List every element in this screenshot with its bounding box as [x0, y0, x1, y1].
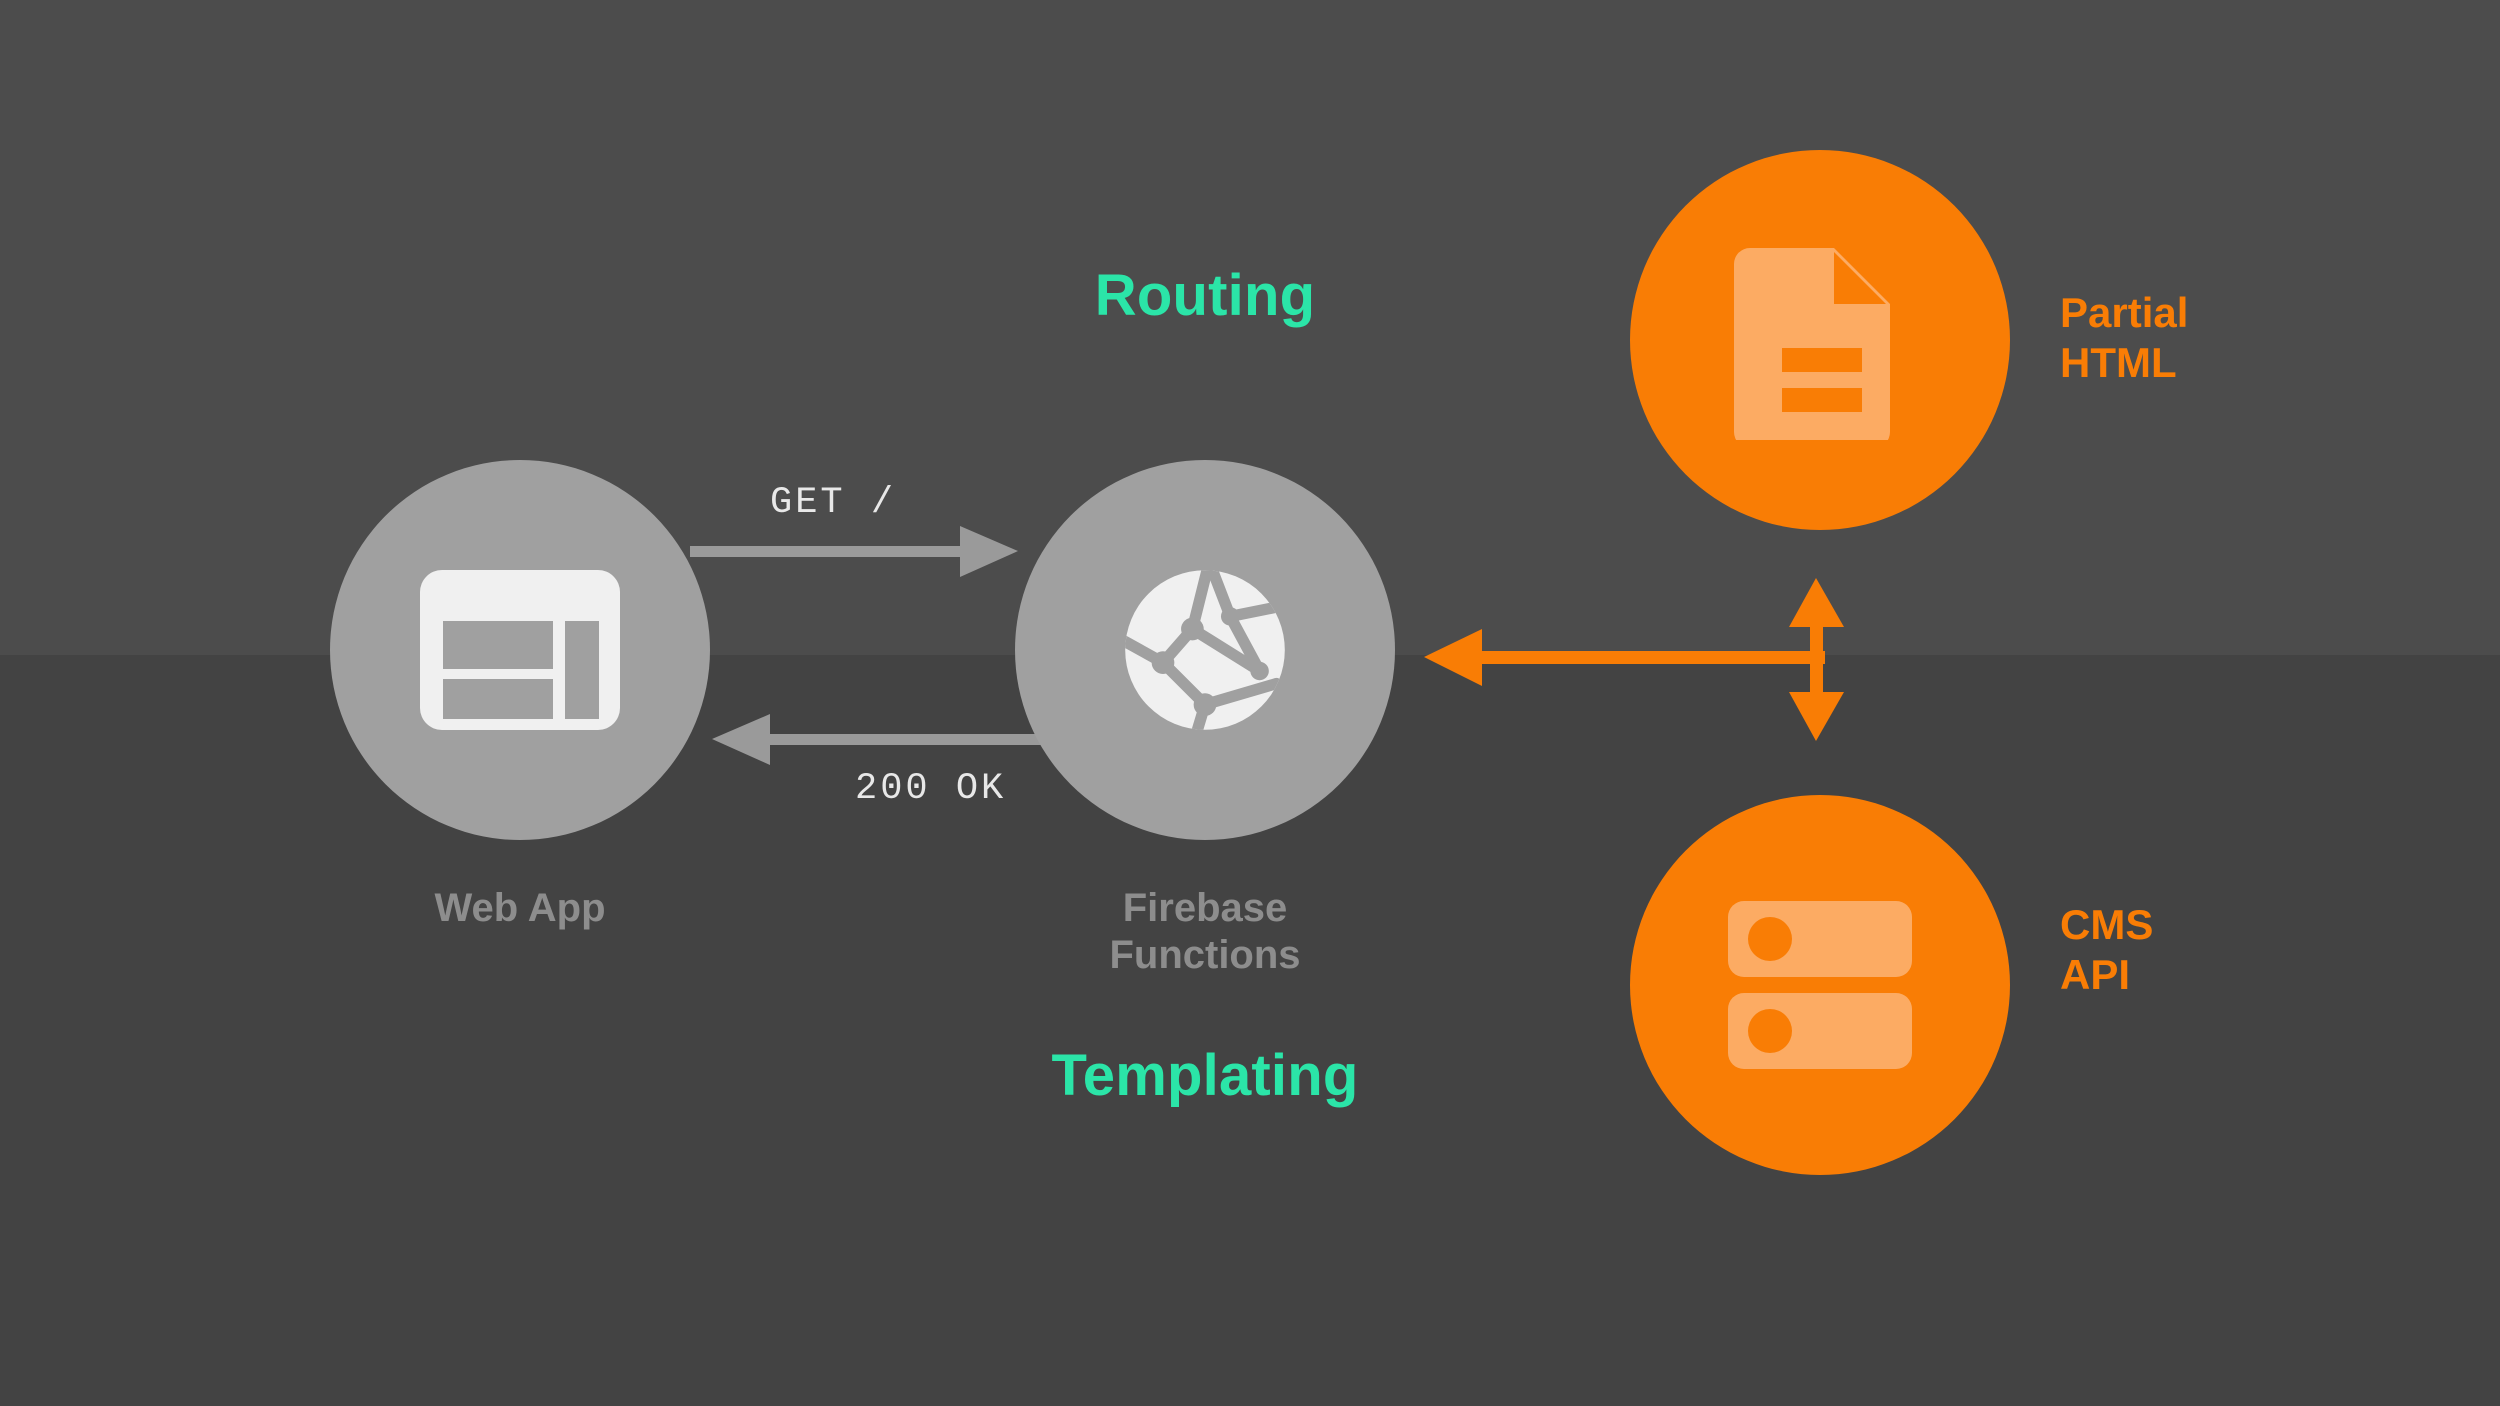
server-stack-icon	[1720, 895, 1920, 1075]
web-app-label: Web App	[320, 885, 720, 932]
request-arrow-label: GET /	[770, 482, 896, 524]
response-arrow-label: 200 OK	[855, 768, 1006, 810]
cms-fetch-connector	[1424, 578, 1844, 741]
diagram-canvas: Web App	[0, 0, 2500, 1406]
firebase-functions-circle[interactable]	[1015, 460, 1395, 840]
partial-html-label: Partial HTML	[2060, 288, 2460, 387]
response-arrow	[712, 714, 1060, 765]
request-arrow	[690, 526, 1018, 577]
partial-html-circle[interactable]	[1630, 150, 2010, 530]
globe-network-icon	[1100, 545, 1310, 755]
browser-window-icon	[415, 565, 625, 735]
cms-api-circle[interactable]	[1630, 795, 2010, 1175]
cms-api-label: CMS API	[2060, 900, 2460, 999]
annotation-templating: Templating	[905, 1042, 1505, 1109]
firebase-functions-label: Firebase Functions	[1005, 885, 1405, 979]
annotation-routing: Routing	[905, 262, 1505, 329]
web-app-circle[interactable]	[330, 460, 710, 840]
document-icon	[1730, 240, 1910, 440]
